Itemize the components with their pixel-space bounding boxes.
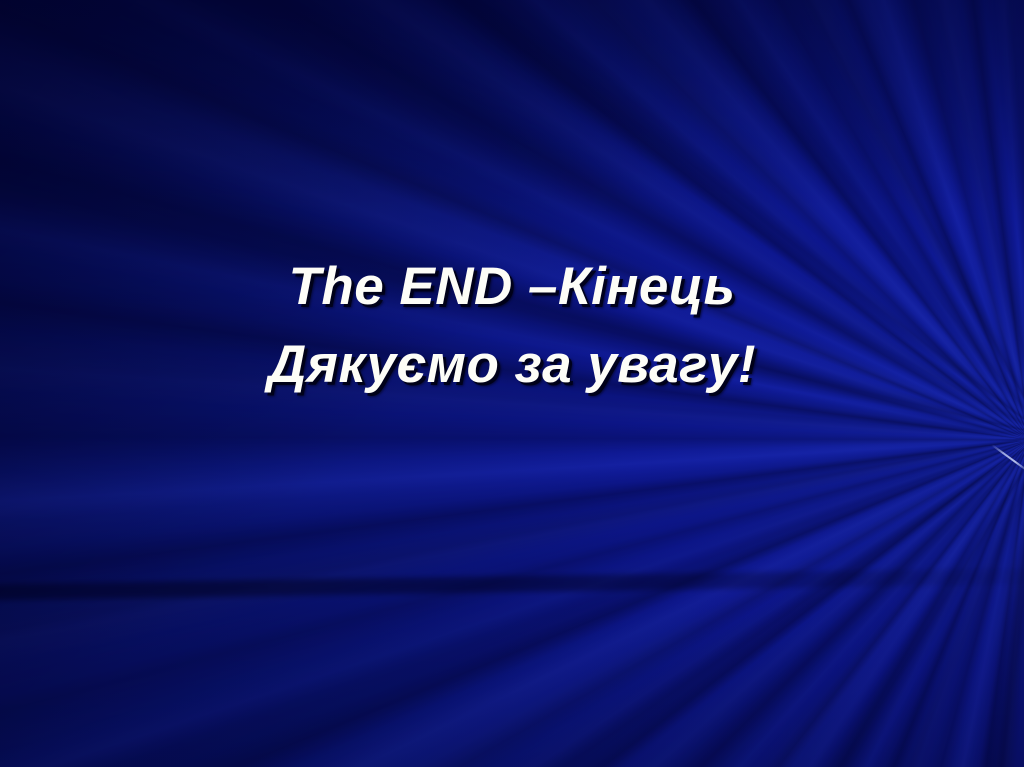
- slide-title-block: The END –Кінець Дякуємо за увагу!: [0, 248, 1024, 404]
- presentation-slide: The END –Кінець Дякуємо за увагу!: [0, 0, 1024, 767]
- slide-background-dark-band: [0, 567, 1024, 601]
- slide-title-line-2: Дякуємо за увагу!: [0, 326, 1024, 404]
- slide-title-line-1: The END –Кінець: [0, 248, 1024, 326]
- slide-background-light-streak: [991, 444, 1024, 473]
